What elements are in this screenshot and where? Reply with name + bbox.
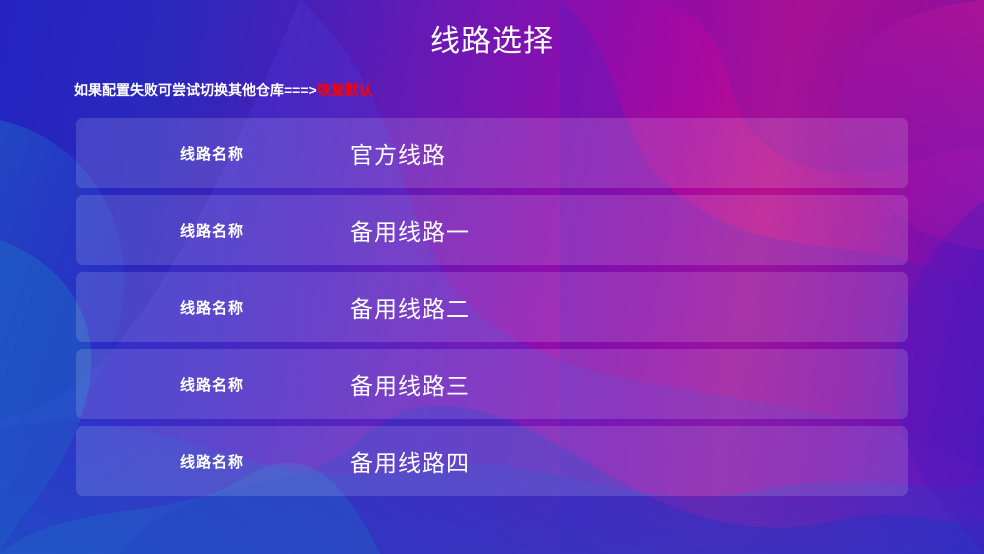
route-row-3[interactable]: 线路名称 备用线路二: [76, 272, 908, 342]
route-value: 官方线路: [348, 136, 908, 170]
route-label: 线路名称: [76, 220, 348, 241]
route-label: 线路名称: [76, 374, 348, 395]
route-value: 备用线路一: [348, 213, 908, 247]
route-label: 线路名称: [76, 143, 348, 164]
route-label: 线路名称: [76, 451, 348, 472]
route-label: 线路名称: [76, 297, 348, 318]
route-row-1[interactable]: 线路名称 官方线路: [76, 118, 908, 188]
route-list: 线路名称 官方线路 线路名称 备用线路一 线路名称 备用线路二 线路名称 备用线…: [76, 118, 908, 496]
route-value: 备用线路二: [348, 290, 908, 324]
route-selection-screen: 线路选择 如果配置失败可尝试切换其他仓库===>恢复默认 线路名称 官方线路 线…: [0, 0, 984, 554]
page-title: 线路选择: [0, 22, 984, 62]
restore-default-link[interactable]: 恢复默认: [317, 82, 373, 98]
subtitle-hint: 如果配置失败可尝试切换其他仓库===>恢复默认: [74, 81, 373, 100]
route-row-2[interactable]: 线路名称 备用线路一: [76, 195, 908, 265]
route-row-4[interactable]: 线路名称 备用线路三: [76, 349, 908, 419]
subtitle-text: 如果配置失败可尝试切换其他仓库===>: [74, 82, 317, 98]
route-value: 备用线路三: [348, 367, 908, 401]
route-row-5[interactable]: 线路名称 备用线路四: [76, 426, 908, 496]
route-value: 备用线路四: [348, 444, 908, 478]
